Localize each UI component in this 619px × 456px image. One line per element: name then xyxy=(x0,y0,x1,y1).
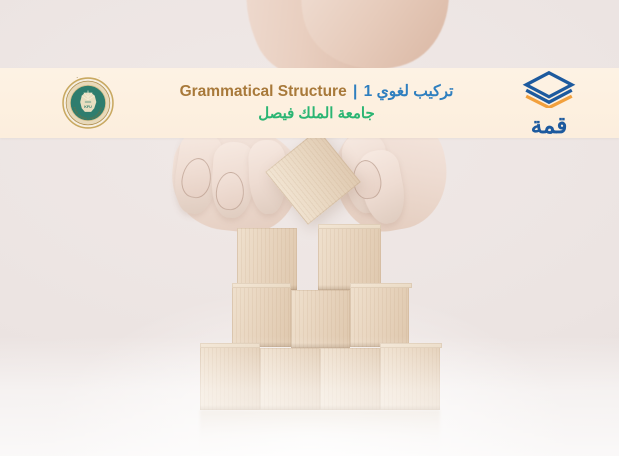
course-title-arabic: تركيب لغوي xyxy=(377,83,454,100)
banner-titles: تركيب لغوي 1 | Grammatical Structure جام… xyxy=(114,82,505,123)
course-title-separator: | xyxy=(351,83,359,100)
course-title-number: 1 xyxy=(364,83,373,100)
block-mid-3-face xyxy=(350,283,412,288)
qimmah-stacked-diamond-icon xyxy=(519,70,579,108)
block-top-2 xyxy=(318,228,381,290)
university-name: جامعة الملك فيصل xyxy=(128,105,505,124)
floor-sheen xyxy=(0,336,619,456)
qimmah-brand-logo: قمة xyxy=(505,70,593,137)
kfu-circular-seal-icon: KFU جامعة الملك فيصل KING FAISAL UNIVERS… xyxy=(62,77,114,129)
title-banner: KFU جامعة الملك فيصل KING FAISAL UNIVERS… xyxy=(0,68,619,138)
block-top-1 xyxy=(237,228,297,290)
course-title-english: Grammatical Structure xyxy=(180,83,347,100)
block-top-2-face xyxy=(318,224,381,229)
course-cover-card: KFU جامعة الملك فيصل KING FAISAL UNIVERS… xyxy=(0,0,619,456)
course-title: تركيب لغوي 1 | Grammatical Structure xyxy=(128,82,505,101)
block-mid-1-face xyxy=(232,283,291,288)
qimmah-wordmark: قمة xyxy=(505,114,593,137)
svg-text:KFU: KFU xyxy=(84,105,92,109)
kfu-seal-logo: KFU جامعة الملك فيصل KING FAISAL UNIVERS… xyxy=(62,77,114,129)
